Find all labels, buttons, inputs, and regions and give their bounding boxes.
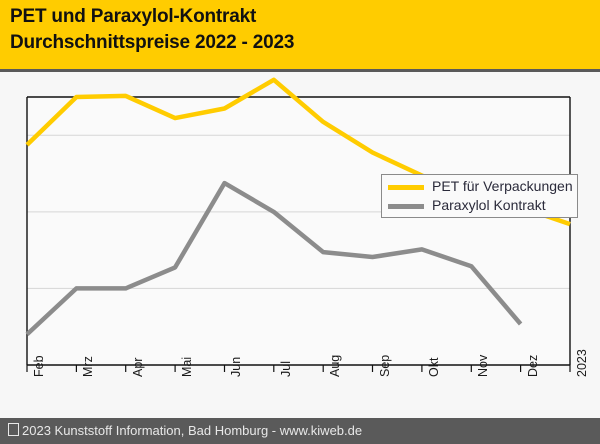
legend-swatch-paraxylol [388, 204, 424, 209]
copyright-glyph-box [8, 423, 19, 436]
copyright-text: 2023 Kunststoff Information, Bad Homburg… [8, 423, 362, 438]
page-title-line2: Durchschnittspreise 2022 - 2023 [10, 32, 294, 54]
legend: PET für Verpackungen Paraxylol Kontrakt [381, 174, 578, 218]
plot-area: FebMrzAprMaiJunJulAugSepOktNovDez2023 PE… [0, 75, 600, 418]
legend-label-paraxylol: Paraxylol Kontrakt [432, 197, 546, 213]
footer-bar: 2023 Kunststoff Information, Bad Homburg… [0, 418, 600, 444]
legend-swatch-pet [388, 185, 424, 190]
line-chart-svg [0, 75, 600, 418]
chart-container: PET und Paraxylol-Kontrakt Durchschnitts… [0, 0, 600, 444]
page-title-line1: PET und Paraxylol-Kontrakt [10, 6, 256, 28]
header-banner: PET und Paraxylol-Kontrakt Durchschnitts… [0, 0, 600, 72]
legend-label-pet: PET für Verpackungen [432, 178, 573, 194]
copyright-label: 2023 Kunststoff Information, Bad Homburg… [22, 423, 362, 438]
